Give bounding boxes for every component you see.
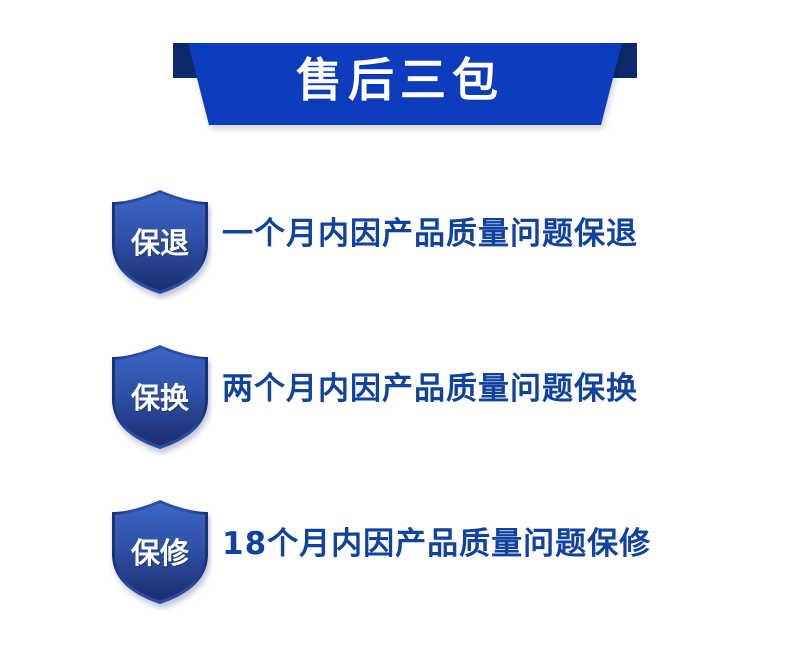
shield-badge-return: 保退	[108, 188, 212, 300]
shield-badge-label: 保修	[108, 498, 212, 604]
warranty-item-row: 保修 18个月内因产品质量问题保修	[0, 480, 800, 635]
after-sales-banner: 售后三包	[0, 0, 800, 150]
shield-badge-label: 保退	[108, 188, 212, 294]
warranty-item-row: 保退 一个月内因产品质量问题保退	[0, 170, 800, 325]
warranty-item-description: 一个月内因产品质量问题保退	[222, 214, 638, 254]
warranty-item-description: 两个月内因产品质量问题保换	[222, 369, 638, 409]
warranty-item-description: 18个月内因产品质量问题保修	[222, 524, 651, 564]
page-title: 售后三包	[0, 46, 800, 114]
warranty-items-list: 保退 一个月内因产品质量问题保退	[0, 170, 800, 635]
warranty-item-row: 保换 两个月内因产品质量问题保换	[0, 325, 800, 480]
shield-badge-repair: 保修	[108, 498, 212, 610]
shield-badge-exchange: 保换	[108, 343, 212, 455]
shield-badge-label: 保换	[108, 343, 212, 449]
